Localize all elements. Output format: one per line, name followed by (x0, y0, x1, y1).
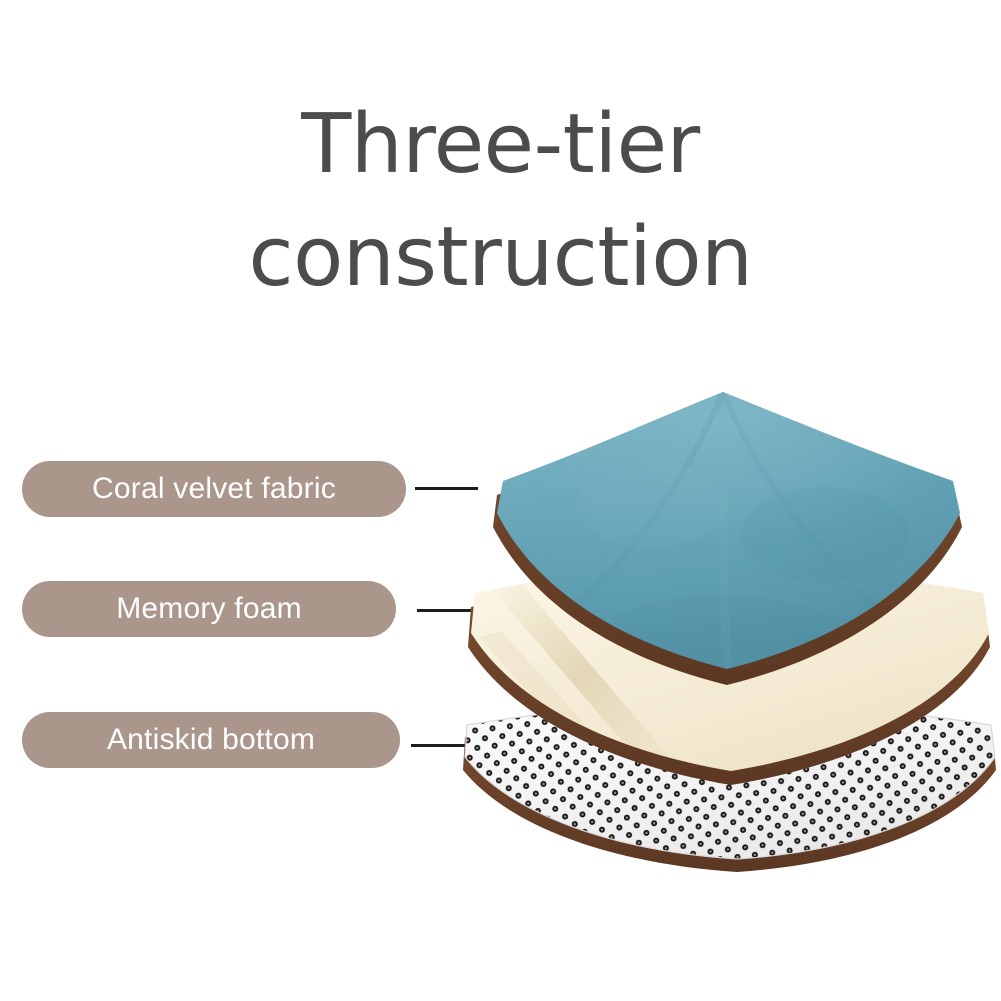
infographic-page: Three-tier construction Coral velvet fab… (0, 0, 1001, 1001)
label-pill-antiskid-bottom: Antiskid bottom (22, 712, 400, 768)
page-title-line-2: construction (0, 201, 1001, 314)
page-title: Three-tier construction (0, 88, 1001, 314)
label-pill-text: Memory foam (116, 592, 302, 626)
page-title-line-1: Three-tier (0, 88, 1001, 201)
label-pill-memory-foam: Memory foam (22, 581, 396, 637)
label-pill-text: Coral velvet fabric (92, 472, 336, 506)
label-pill-text: Antiskid bottom (107, 723, 315, 757)
label-pill-coral-velvet-fabric: Coral velvet fabric (22, 461, 406, 517)
three-layer-exploded-illustration (455, 385, 1001, 875)
